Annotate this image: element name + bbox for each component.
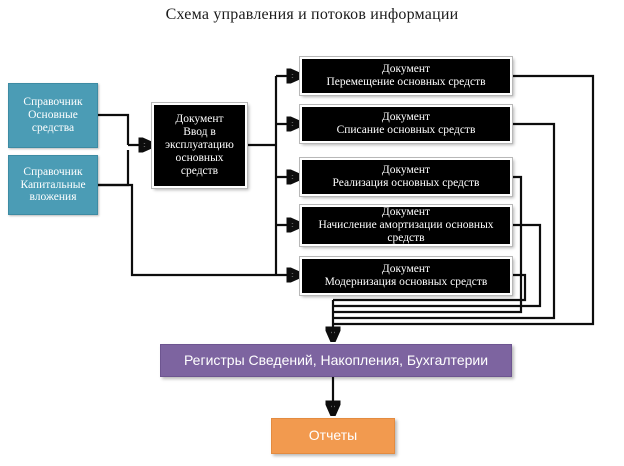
ref2-line1: Справочник (23, 166, 82, 178)
doc4-kind: Документ (382, 206, 430, 218)
doc3-kind: Документ (382, 164, 430, 176)
input-doc-line2: Ввод в (183, 126, 216, 138)
document-box-movement[interactable]: Документ Перемещение основных средств (300, 57, 512, 95)
document-box-commissioning[interactable]: Документ Ввод в эксплуатацию основных ср… (152, 103, 247, 188)
reference-box-fixed-assets[interactable]: Справочник Основные средства (8, 83, 98, 148)
doc1-kind: Документ (382, 63, 430, 75)
document-box-depreciation[interactable]: Документ Начисление амортизации основных… (300, 205, 512, 246)
doc3-name: Реализация основных средств (333, 177, 480, 189)
ref1-line1: Справочник (23, 96, 82, 108)
registers-box-label: Регистры Сведений, Накопления, Бухгалтер… (180, 353, 492, 369)
doc1-name: Перемещение основных средств (326, 76, 485, 88)
ref1-line2: Основные (28, 109, 78, 121)
document-box-writeoff-text: Документ Списание основных средств (333, 111, 480, 137)
input-doc-line5: средств (181, 165, 218, 177)
input-doc-line4: основных (175, 152, 223, 164)
doc2-kind: Документ (382, 111, 430, 123)
page-title: Схема управления и потоков информации (0, 6, 624, 24)
reports-box-label: Отчеты (305, 428, 361, 444)
input-doc-line1: Документ (175, 113, 223, 125)
diagram-canvas: Схема управления и потоков информации (0, 0, 624, 466)
reports-box[interactable]: Отчеты (271, 418, 395, 454)
reference-box-fixed-assets-text: Справочник Основные средства (19, 96, 86, 135)
document-box-sale-text: Документ Реализация основных средств (329, 164, 484, 190)
ref2-line2: Капитальные (20, 179, 85, 191)
document-box-commissioning-text: Документ Ввод в эксплуатацию основных ср… (161, 113, 238, 177)
input-doc-line3: эксплуатацию (165, 139, 234, 151)
reference-box-capital-investments-text: Справочник Капитальные вложения (16, 166, 89, 205)
wire-ref2-bypass (98, 185, 276, 275)
document-box-depreciation-text: Документ Начисление амортизации основных… (302, 206, 510, 245)
document-box-modernization-text: Документ Модернизация основных средств (321, 263, 492, 289)
document-box-movement-text: Документ Перемещение основных средств (322, 63, 489, 89)
doc5-name: Модернизация основных средств (325, 276, 488, 288)
registers-box[interactable]: Регистры Сведений, Накопления, Бухгалтер… (160, 344, 512, 377)
wire-ref1-to-input (98, 115, 128, 145)
ref1-line3: средства (32, 122, 74, 134)
reference-box-capital-investments[interactable]: Справочник Капитальные вложения (8, 155, 98, 215)
ref2-line3: вложения (30, 191, 77, 203)
document-box-modernization[interactable]: Документ Модернизация основных средств (300, 257, 512, 295)
doc4-name: Начисление амортизации основных средств (318, 219, 493, 244)
document-box-sale[interactable]: Документ Реализация основных средств (300, 158, 512, 196)
doc5-kind: Документ (382, 263, 430, 275)
doc2-name: Списание основных средств (337, 124, 476, 136)
document-box-writeoff[interactable]: Документ Списание основных средств (300, 105, 512, 143)
wire-ref2-to-input (98, 150, 128, 185)
